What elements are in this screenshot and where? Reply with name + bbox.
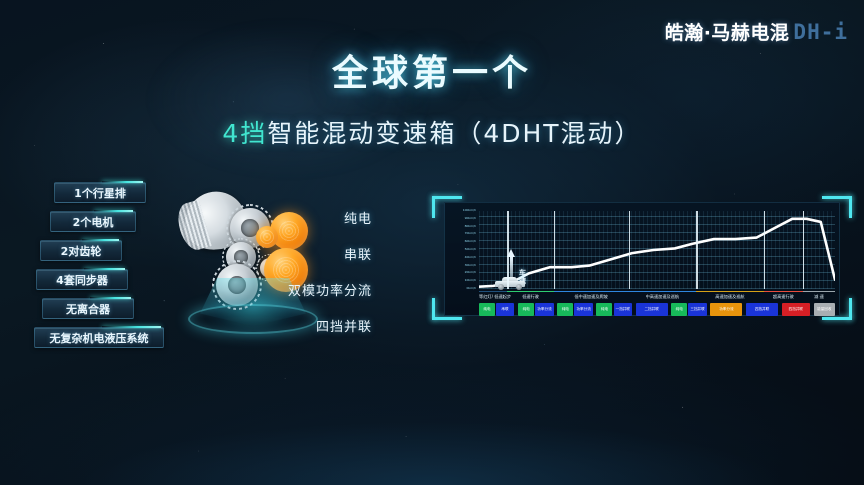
mode-chip[interactable]: 纯电 xyxy=(479,303,495,316)
segment-label: 低中速加速及爬坡 xyxy=(554,291,629,299)
mode-chip[interactable]: 功率分流 xyxy=(574,303,593,316)
spec-tag[interactable]: 1个行星排 xyxy=(54,182,146,203)
mode-chip[interactable]: 二挡并联 xyxy=(636,303,668,316)
mode-chip[interactable]: 三挡并联 xyxy=(688,303,707,316)
chart-plot-area: 车速 100km/h90km/h80km/h70km/h60km/h50km/h… xyxy=(479,211,835,289)
chart-body: 车速 100km/h90km/h80km/h70km/h60km/h50km/h… xyxy=(444,202,840,316)
segment-label: 低速行驶 xyxy=(507,291,553,299)
drive-mode-label: 纯电 xyxy=(344,208,372,227)
spec-tag-list: 1个行星排 2个电机 2对齿轮 4套同步器 无离合器 无复杂机电液压系统 xyxy=(34,182,164,348)
brand-logo: 皓瀚·马赫电混 DH-i xyxy=(665,18,848,45)
segment-divider xyxy=(629,211,631,289)
y-axis-tick: 90km/h xyxy=(465,217,476,220)
segment-color-bar xyxy=(554,291,629,292)
segment-label: 等红灯/ 低速起步 xyxy=(479,291,507,299)
segment-color-bar xyxy=(629,291,697,292)
drive-mode-label: 四挡并联 xyxy=(316,316,372,335)
spec-tag[interactable]: 4套同步器 xyxy=(36,269,128,290)
brand-name-en: DH-i xyxy=(793,20,848,44)
segment-color-bar xyxy=(479,291,507,292)
segment-label: 减 速 xyxy=(803,291,835,299)
segment-label-row: 等红灯/ 低速起步低速行驶低中速加速及爬坡中高速加速及巡航高速加速及巡航超高速行… xyxy=(479,291,835,301)
mode-chip[interactable]: 串联 xyxy=(496,303,514,316)
mode-chip[interactable]: 能量回收 xyxy=(814,303,835,316)
segment-divider xyxy=(696,211,698,289)
segment-divider xyxy=(507,211,509,289)
mode-chip[interactable]: 纯电 xyxy=(671,303,687,316)
spec-tag[interactable]: 无复杂机电液压系统 xyxy=(34,327,164,348)
y-axis-tick: 80km/h xyxy=(465,225,476,228)
y-axis-tick: 60km/h xyxy=(465,240,476,243)
mode-chip[interactable]: 一挡并联 xyxy=(614,303,633,316)
mode-chip[interactable]: 纯电 xyxy=(518,303,534,316)
page-subtitle: 4挡智能混动变速箱（4DHT混动） xyxy=(0,114,864,150)
mode-chip[interactable]: 四挡并联 xyxy=(782,303,810,316)
mode-chip[interactable]: 功率分流 xyxy=(710,303,742,316)
segment-color-bar xyxy=(764,291,803,292)
drive-mode-label: 双模功率分流 xyxy=(288,280,372,299)
spec-tag[interactable]: 无离合器 xyxy=(42,298,134,319)
y-axis-tick: 50km/h xyxy=(465,248,476,251)
mode-chip[interactable]: 四挡并联 xyxy=(746,303,778,316)
slide-canvas: 皓瀚·马赫电混 DH-i 全球第一个 4挡智能混动变速箱（4DHT混动） 1个行… xyxy=(0,0,864,485)
segment-divider xyxy=(803,211,805,289)
y-axis-tick: 0km/h xyxy=(467,287,476,290)
spec-tag[interactable]: 2个电机 xyxy=(50,211,136,232)
segment-label: 高速加速及巡航 xyxy=(696,291,764,299)
ground-glow xyxy=(0,335,864,485)
subtitle-accent: 4挡 xyxy=(222,119,267,148)
car-icon xyxy=(495,277,525,290)
segment-label: 中高速加速及巡航 xyxy=(629,291,697,299)
subtitle-rest: 智能混动变速箱（4DHT混动） xyxy=(267,119,641,148)
segment-color-bar xyxy=(803,291,835,292)
y-axis-tick: 40km/h xyxy=(465,256,476,259)
spec-tag[interactable]: 2对齿轮 xyxy=(40,240,122,261)
segment-color-bar xyxy=(507,291,553,292)
mode-chip[interactable]: 纯电 xyxy=(596,303,612,316)
drive-mode-label: 串联 xyxy=(344,244,372,263)
y-axis-tick: 20km/h xyxy=(465,271,476,274)
page-title: 全球第一个 xyxy=(0,44,864,96)
drive-mode-list: 纯电 串联 双模功率分流 四挡并联 xyxy=(288,208,372,335)
mode-chip[interactable]: 纯电 xyxy=(557,303,573,316)
electric-motor-icon xyxy=(256,226,278,248)
segment-color-bar xyxy=(696,291,764,292)
brand-name-cn: 皓瀚·马赫电混 xyxy=(665,18,790,45)
y-axis-tick: 10km/h xyxy=(465,279,476,282)
mode-chip[interactable]: 功率分流 xyxy=(535,303,554,316)
y-axis-tick: 30km/h xyxy=(465,264,476,267)
segment-divider xyxy=(554,211,556,289)
segment-label: 超高速行驶 xyxy=(764,291,803,299)
y-axis-tick: 100km/h xyxy=(463,209,476,212)
speed-curve xyxy=(479,211,835,289)
y-axis-tick: 70km/h xyxy=(465,232,476,235)
speed-mode-chart-panel: 车速 100km/h90km/h80km/h70km/h60km/h50km/h… xyxy=(432,196,852,320)
mode-chip-row: 纯电串联纯电功率分流纯电功率分流纯电一挡并联二挡并联纯电三挡并联功率分流四挡并联… xyxy=(479,303,835,316)
segment-divider xyxy=(764,211,766,289)
